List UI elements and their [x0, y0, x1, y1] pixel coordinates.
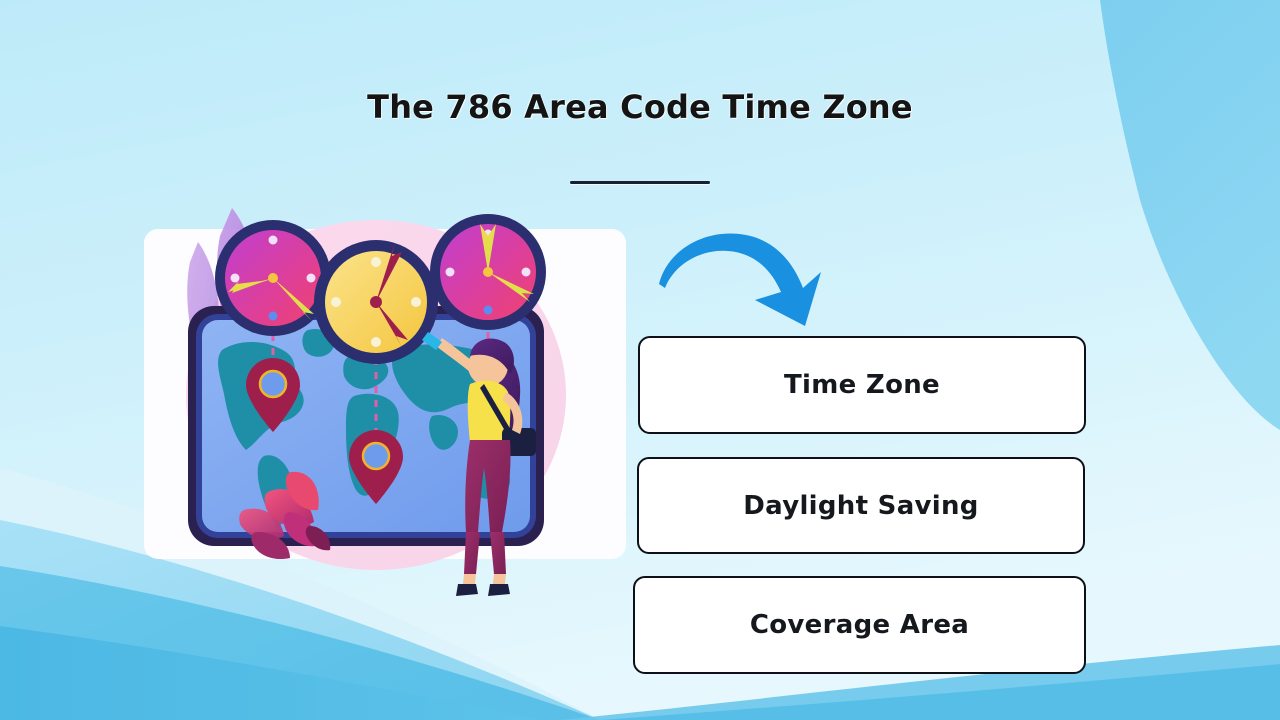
card-coverage-area[interactable]: Coverage Area: [633, 576, 1086, 674]
title-divider: [570, 181, 710, 184]
page-header: The 786 Area Code Time Zone: [0, 88, 1280, 126]
card-time-zone-label: Time Zone: [784, 370, 940, 400]
curved-down-right-arrow: [655, 222, 835, 332]
clock-right: [430, 214, 546, 330]
page-title: The 786 Area Code Time Zone: [0, 88, 1280, 126]
card-daylight-saving[interactable]: Daylight Saving: [637, 457, 1085, 554]
card-time-zone[interactable]: Time Zone: [638, 336, 1086, 434]
clock-left: [215, 220, 331, 336]
page-root: The 786 Area Code Time Zone: [0, 0, 1280, 720]
world-time-zones-illustration: [140, 180, 610, 600]
card-daylight-saving-label: Daylight Saving: [743, 491, 978, 521]
clock-center: [314, 240, 438, 364]
card-coverage-area-label: Coverage Area: [750, 610, 969, 640]
